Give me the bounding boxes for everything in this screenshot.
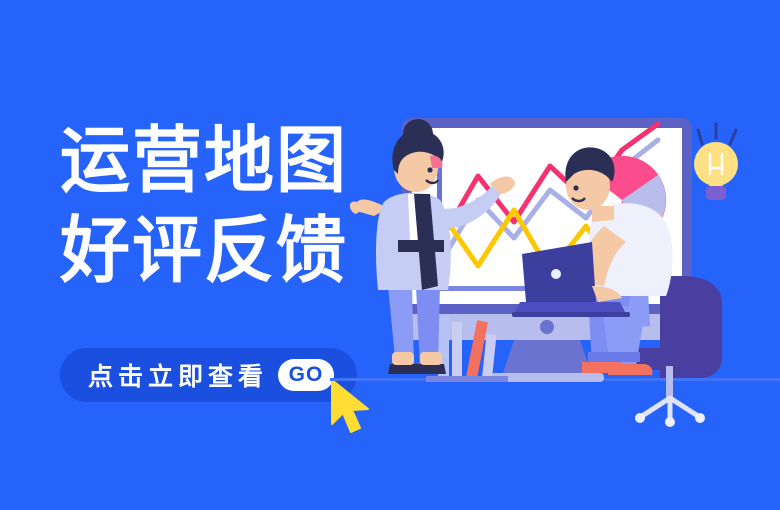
woman-hair-bun <box>403 119 433 149</box>
chair-stem <box>666 366 673 400</box>
book-shelf <box>426 376 508 382</box>
bulb-ray-right <box>730 130 736 144</box>
bulb-glass <box>694 142 738 186</box>
chair-wheel-right <box>695 413 705 423</box>
headline-line-1: 运营地图 <box>60 124 348 197</box>
man-shoe-front <box>608 364 653 375</box>
cta-go-label: GO <box>289 363 324 387</box>
promo-banner: 运营地图 好评反馈 点击立即查看 GO <box>0 0 780 510</box>
lightbulb-icon <box>694 124 738 200</box>
woman-belt <box>398 240 444 252</box>
chair-leg-right <box>670 398 698 416</box>
man-eye <box>573 185 578 190</box>
cta-go-pill[interactable]: GO <box>278 359 334 391</box>
chair-wheel-center <box>665 417 675 427</box>
headline-line-2: 好评反馈 <box>60 214 348 287</box>
woman-shoe-right <box>416 364 446 374</box>
woman-ankle-left <box>392 352 414 365</box>
chair-wheel-left <box>635 413 645 423</box>
laptop-edge <box>512 312 630 317</box>
woman-shoe-left <box>388 364 420 374</box>
cta-button[interactable]: 点击立即查看 GO <box>60 348 357 402</box>
man-neck <box>592 206 614 222</box>
man-cuff-front <box>608 352 640 362</box>
bulb-ray-left <box>698 130 702 144</box>
laptop-logo-icon <box>551 269 561 279</box>
monitor-stand <box>502 340 592 376</box>
business-analytics-illustration <box>330 90 780 510</box>
chair-leg-left <box>642 398 670 416</box>
cta-button-label: 点击立即查看 <box>88 357 268 393</box>
monitor-power-dot <box>540 320 554 334</box>
book-2 <box>452 322 462 378</box>
bulb-base <box>706 186 726 200</box>
woman-ankle-right <box>420 352 442 365</box>
woman-eye <box>427 167 432 172</box>
